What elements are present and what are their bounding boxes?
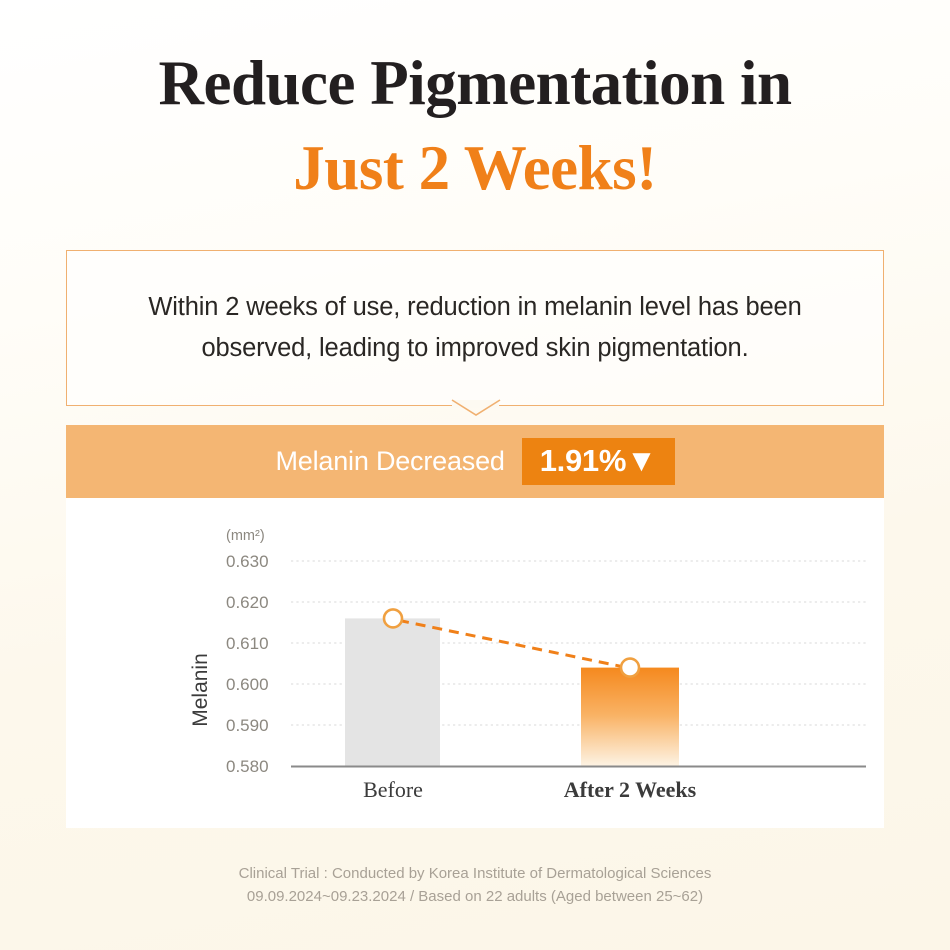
melanin-decrease-banner: Melanin Decreased 1.91%▼ [66,425,884,498]
y-tick-label: 0.630 [226,552,269,571]
bar-before [345,618,440,766]
callout-text: Within 2 weeks of use, reduction in mela… [67,287,883,370]
callout-pointer-icon [448,399,504,417]
footer-line-1: Clinical Trial : Conducted by Korea Inst… [0,862,950,885]
y-tick-label: 0.600 [226,675,269,694]
chart-panel: (mm²) 0.630 0.620 0.610 0.600 0.590 0.58… [66,498,884,828]
footer-line-2: 09.09.2024~09.23.2024 / Based on 22 adul… [0,885,950,908]
bar-after-2-weeks [581,668,679,766]
headline-line-1: Reduce Pigmentation in [0,52,950,115]
y-tick-label: 0.610 [226,634,269,653]
callout-box: Within 2 weeks of use, reduction in mela… [66,250,884,406]
category-label-after: After 2 Weeks [564,777,697,802]
y-axis-unit: (mm²) [226,528,265,544]
y-axis-title: Melanin [189,653,212,727]
page-title: Reduce Pigmentation in Just 2 Weeks! [0,52,950,200]
headline-line-2: Just 2 Weeks! [0,137,950,200]
banner-label: Melanin Decreased [275,446,504,477]
y-tick-label: 0.620 [226,593,269,612]
y-tick-label: 0.580 [226,757,269,776]
category-label-before: Before [363,777,423,802]
footer-note: Clinical Trial : Conducted by Korea Inst… [0,862,950,909]
y-tick-label: 0.590 [226,716,269,735]
data-point-marker-after [621,659,639,677]
data-point-marker-before [384,609,402,627]
decrease-badge: 1.91%▼ [522,438,675,485]
melanin-bar-chart: (mm²) 0.630 0.620 0.610 0.600 0.590 0.58… [66,498,884,828]
